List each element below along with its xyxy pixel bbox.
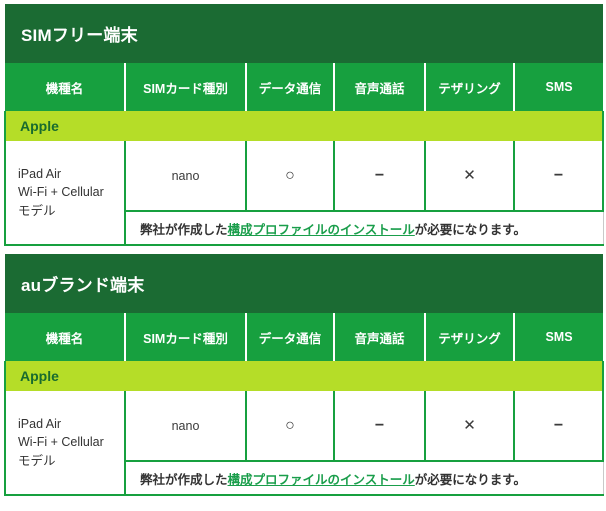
model-name-cell: iPad Air Wi-Fi + Cellular モデル xyxy=(5,141,125,245)
sim-type-value: nano xyxy=(172,169,200,183)
table-title-row: auブランド端末 xyxy=(5,254,603,313)
column-header-sms: SMS xyxy=(514,63,603,111)
configuration-profile-link[interactable]: 構成プロファイルのインストール xyxy=(228,473,415,487)
cross-icon: ✕ xyxy=(463,418,476,433)
column-header-model: 機種名 xyxy=(5,63,125,111)
data-communication-cell: ○ xyxy=(246,141,334,211)
note-prefix: 弊社が作成した xyxy=(140,223,228,237)
sim-type-value: nano xyxy=(172,419,200,433)
tethering-cell: ✕ xyxy=(425,391,514,461)
brand-row: Apple xyxy=(5,361,603,391)
column-header-voice: 音声通話 xyxy=(334,63,425,111)
column-header-voice: 音声通話 xyxy=(334,313,425,361)
circle-icon: ○ xyxy=(285,168,295,184)
brand-label: Apple xyxy=(5,361,603,391)
configuration-profile-link[interactable]: 構成プロファイルのインストール xyxy=(228,223,415,237)
brand-row: Apple xyxy=(5,111,603,141)
note-suffix: が必要になります。 xyxy=(415,223,526,237)
note-suffix: が必要になります。 xyxy=(415,473,526,487)
column-header-tethering: テザリング xyxy=(425,63,514,111)
model-line-3: モデル xyxy=(18,454,56,468)
model-line-2: Wi-Fi + Cellular xyxy=(18,185,104,199)
note-prefix: 弊社が作成した xyxy=(140,473,228,487)
table-title: auブランド端末 xyxy=(5,254,603,313)
column-header-model: 機種名 xyxy=(5,313,125,361)
au-brand-device-table: auブランド端末 機種名 SIMカード種別 データ通信 音声通話 テザリング S… xyxy=(4,254,604,496)
dash-icon: − xyxy=(554,418,563,434)
tethering-cell: ✕ xyxy=(425,141,514,211)
model-line-1: iPad Air xyxy=(18,417,61,431)
data-communication-cell: ○ xyxy=(246,391,334,461)
column-header-data: データ通信 xyxy=(246,313,334,361)
circle-icon: ○ xyxy=(285,418,295,434)
sim-free-device-table: SIMフリー端末 機種名 SIMカード種別 データ通信 音声通話 テザリング S… xyxy=(4,4,604,246)
note-cell: 弊社が作成した構成プロファイルのインストールが必要になります。 xyxy=(125,211,603,245)
column-header-row: 機種名 SIMカード種別 データ通信 音声通話 テザリング SMS xyxy=(5,63,603,111)
sms-cell: − xyxy=(514,141,603,211)
sim-type-cell: nano xyxy=(125,141,246,211)
table-row: iPad Air Wi-Fi + Cellular モデル nano ○ − ✕ xyxy=(5,391,603,461)
model-line-2: Wi-Fi + Cellular xyxy=(18,435,104,449)
table-title: SIMフリー端末 xyxy=(5,4,603,63)
voice-call-cell: − xyxy=(334,141,425,211)
sim-type-cell: nano xyxy=(125,391,246,461)
dash-icon: − xyxy=(375,418,384,434)
cross-icon: ✕ xyxy=(463,168,476,183)
model-line-3: モデル xyxy=(18,204,56,218)
column-header-tethering: テザリング xyxy=(425,313,514,361)
model-name-cell: iPad Air Wi-Fi + Cellular モデル xyxy=(5,391,125,495)
device-compatibility-page: SIMフリー端末 機種名 SIMカード種別 データ通信 音声通話 テザリング S… xyxy=(0,0,606,511)
table-row: iPad Air Wi-Fi + Cellular モデル nano ○ − ✕ xyxy=(5,141,603,211)
brand-label: Apple xyxy=(5,111,603,141)
column-header-sms: SMS xyxy=(514,313,603,361)
dash-icon: − xyxy=(554,168,563,184)
column-header-sim-type: SIMカード種別 xyxy=(125,313,246,361)
model-line-1: iPad Air xyxy=(18,167,61,181)
voice-call-cell: − xyxy=(334,391,425,461)
table-title-row: SIMフリー端末 xyxy=(5,4,603,63)
dash-icon: − xyxy=(375,168,384,184)
column-header-row: 機種名 SIMカード種別 データ通信 音声通話 テザリング SMS xyxy=(5,313,603,361)
note-cell: 弊社が作成した構成プロファイルのインストールが必要になります。 xyxy=(125,461,603,495)
column-header-sim-type: SIMカード種別 xyxy=(125,63,246,111)
column-header-data: データ通信 xyxy=(246,63,334,111)
sms-cell: − xyxy=(514,391,603,461)
